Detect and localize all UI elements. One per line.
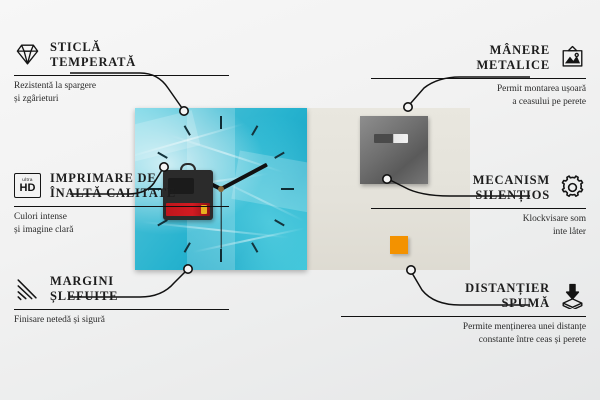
gear-icon [559, 174, 586, 201]
feature-title: MARGINIȘLEFUITE [50, 274, 118, 304]
diagonal-lines-icon [14, 275, 41, 302]
feature-title: MECANISMSILENȚIOS [473, 173, 550, 203]
feature-silent-mechanism[interactable]: MECANISMSILENȚIOS Klockvisare sominte lå… [371, 173, 586, 238]
divider [14, 75, 229, 77]
divider [341, 316, 586, 318]
press-down-icon [559, 282, 586, 309]
picture-frame-icon [559, 44, 586, 71]
divider [14, 206, 229, 208]
feature-subtitle: Finisare netedă și sigură [14, 314, 229, 326]
clock-tick [281, 188, 294, 190]
feature-subtitle: Culori intenseși imagine clară [14, 211, 229, 236]
feature-high-quality-print[interactable]: ultra HD IMPRIMARE DEÎNALTĂ CALITATE Cul… [14, 171, 229, 236]
feature-title: MÂNEREMETALICE [476, 43, 550, 73]
ultra-hd-icon: ultra HD [14, 173, 41, 198]
divider [371, 78, 586, 80]
feature-subtitle: Permite menținerea unei distanțeconstant… [341, 321, 586, 346]
feature-tempered-glass[interactable]: STICLĂTEMPERATĂ Rezistentă la spargereși… [14, 40, 229, 105]
divider [371, 208, 586, 210]
divider [14, 309, 229, 311]
feature-metal-handles[interactable]: MÂNEREMETALICE Permit montarea ușoarăa c… [371, 43, 586, 108]
feature-foam-spacer[interactable]: DISTANȚIERSPUMĂ Permite menținerea unei … [341, 281, 586, 346]
clock-tick [220, 116, 222, 129]
feature-subtitle: Rezistentă la spargereși zgârieturi [14, 80, 229, 105]
diamond-icon [14, 41, 41, 68]
clock-tick [220, 249, 222, 262]
feature-title: IMPRIMARE DEÎNALTĂ CALITATE [50, 171, 176, 201]
clock-tick [274, 219, 285, 226]
feature-subtitle: Permit montarea ușoarăa ceasului pe pere… [371, 83, 586, 108]
feature-polished-edges[interactable]: MARGINIȘLEFUITE Finisare netedă și sigur… [14, 274, 229, 327]
foam-spacer-part [390, 236, 408, 254]
feature-title: STICLĂTEMPERATĂ [50, 40, 136, 70]
infographic-stage: STICLĂTEMPERATĂ Rezistentă la spargereși… [0, 0, 600, 400]
feature-title: DISTANȚIERSPUMĂ [465, 281, 550, 311]
clock-tick [251, 125, 258, 136]
clock-tick [251, 242, 258, 253]
feature-subtitle: Klockvisare sominte låter [371, 213, 586, 238]
